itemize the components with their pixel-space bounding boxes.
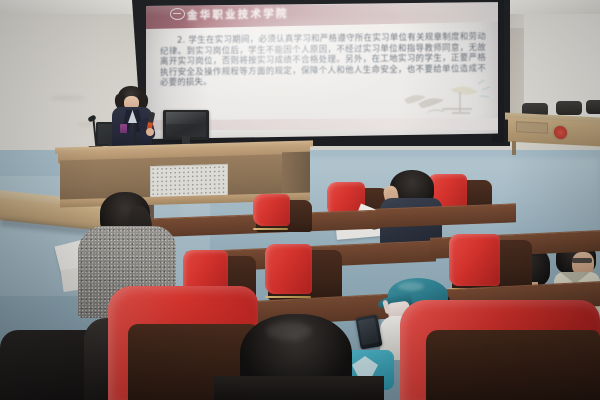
wall-mark: [50, 95, 86, 101]
side-chair: [586, 100, 600, 114]
foreground-seat-right: [400, 300, 600, 400]
foreground-person-shoulders: [214, 376, 384, 400]
podium-vent-panel: [150, 164, 228, 198]
slide-school-name: 金华职业技术学院: [187, 4, 347, 23]
cap-highlight: [398, 282, 424, 291]
auditorium-seat: [256, 200, 312, 232]
lecture-hall-photo: 金华职业技术学院 2. 学生在实习期间，必须认真学习和严格遵守所在实习单位有关规…: [0, 0, 600, 400]
seat-cushion: [265, 244, 312, 294]
monitor-glare: [166, 112, 206, 124]
seat-cushion: [449, 234, 500, 286]
presenter-name-badge: [120, 124, 127, 133]
seat-frame: [426, 330, 600, 400]
glasses-icon: [572, 258, 592, 263]
auditorium-seat: [452, 240, 532, 292]
side-chair: [556, 101, 582, 115]
presenter-hand: [146, 128, 154, 136]
side-desk-leg: [512, 141, 516, 155]
seat-cushion: [253, 194, 290, 226]
auditorium-seat: [268, 250, 342, 300]
hair-highlight: [266, 322, 312, 340]
podium-side: [282, 152, 310, 199]
school-seal-icon: [170, 8, 185, 20]
side-desk-panel: [516, 121, 548, 134]
red-emblem-icon: [554, 126, 567, 140]
seat-trim: [253, 228, 288, 231]
